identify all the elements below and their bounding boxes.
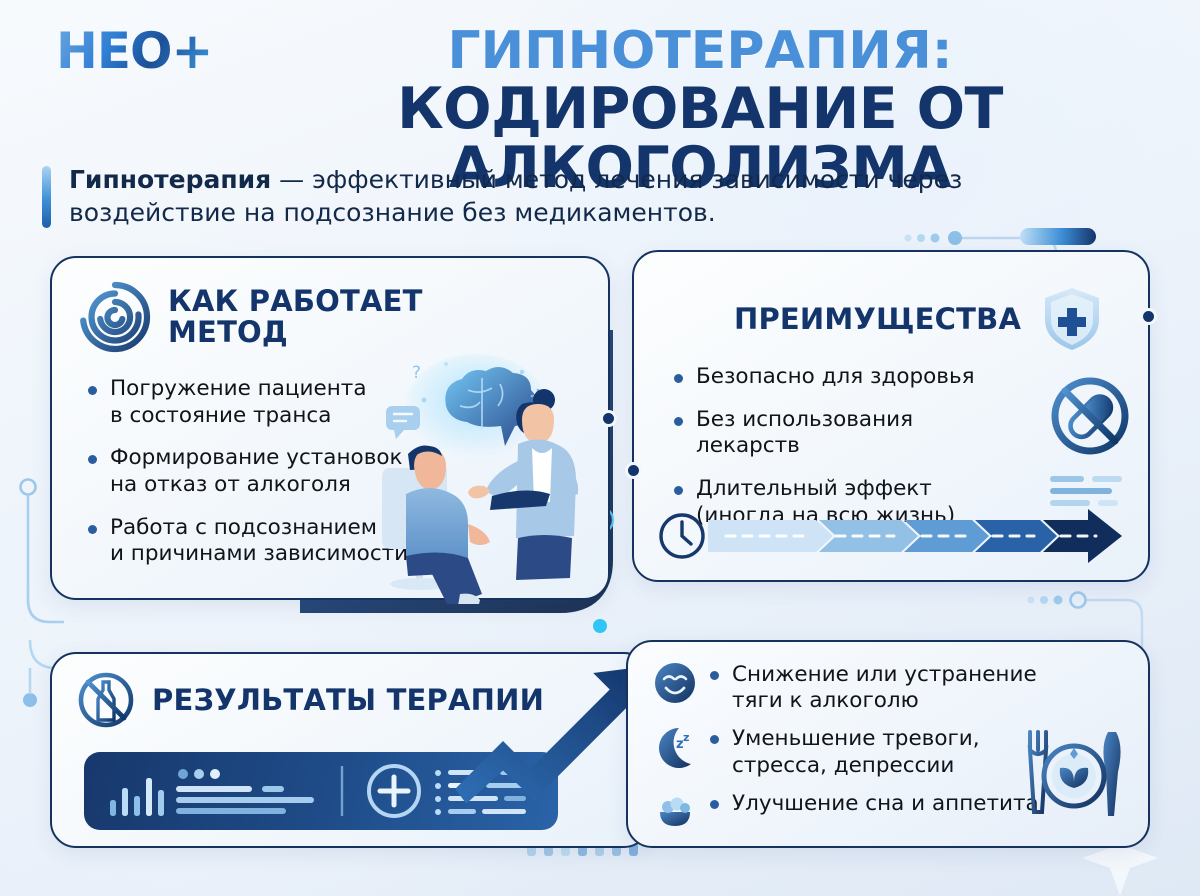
text-lines-icon	[1050, 474, 1130, 508]
healthy-meal-icon	[1020, 726, 1128, 820]
card-effects: Снижение или устранение тяги к алкоголю …	[626, 640, 1150, 848]
bullet-text: Формирование установок на отказ от алког…	[110, 445, 403, 497]
card-advantages-title: ПРЕИМУЩЕСТВА	[734, 304, 1021, 335]
bullet-text: Без использования лекарств	[696, 407, 913, 459]
lede-lead-word: Гипнотерапия	[69, 165, 271, 194]
list-item: Снижение или устранение тяги к алкоголю	[652, 660, 1052, 714]
list-item: Без использования лекарств	[672, 407, 1002, 460]
card-edge-dot	[1140, 308, 1157, 325]
bullet-text: Безопасно для здоровья	[696, 364, 975, 389]
card-advantages-header: ПРЕИМУЩЕСТВА	[734, 286, 1103, 352]
list-item: Работа с подсознанием и причинами зависи…	[86, 515, 416, 568]
lede-text: Гипнотерапия — эффективный метод лечения…	[69, 163, 1122, 230]
list-item: Безопасно для здоровья	[672, 364, 1002, 391]
card-effects-list: Снижение или устранение тяги к алкоголю …	[652, 660, 1052, 835]
card-method: КАК РАБОТАЕТ МЕТОД Погружение пациента в…	[50, 256, 610, 600]
bullet-text: Погружение пациента в состояние транса	[110, 376, 367, 428]
list-item: Погружение пациента в состояние транса	[86, 376, 416, 429]
card-method-bullets: Погружение пациента в состояние транса Ф…	[86, 376, 416, 568]
effect-text: Улучшение сна и аппетита	[710, 789, 1039, 817]
infographic-root: НЕО+ ГИПНОТЕРАПИЯ: КОДИРОВАНИЕ ОТ АЛКОГО…	[0, 0, 1200, 896]
effect-text: Снижение или устранение тяги к алкоголю	[710, 660, 1037, 714]
card-method-title: КАК РАБОТАЕТ МЕТОД	[168, 286, 423, 347]
list-item: z z Уменьшение тревоги, стресса, депресс…	[652, 724, 1052, 778]
title-line-1: ГИПНОТЕРАПИЯ:	[240, 24, 1160, 78]
no-alcohol-icon	[76, 670, 136, 730]
effect-text: Уменьшение тревоги, стресса, депрессии	[710, 724, 980, 778]
text-lines-icon	[176, 786, 314, 814]
brand-logo: НЕО+	[56, 26, 212, 76]
svg-text:z: z	[683, 731, 689, 744]
accent-bar	[42, 166, 51, 228]
spiral-hypnosis-icon	[78, 280, 152, 354]
calm-face-icon	[652, 660, 698, 706]
card-method-header: КАК РАБОТАЕТ МЕТОД	[78, 280, 423, 354]
card-edge-dot	[625, 462, 642, 479]
card-edge-dot	[600, 410, 617, 427]
moon-sleep-icon: z z	[652, 724, 698, 770]
card-advantages-bullets: Безопасно для здоровья Без использования…	[672, 364, 1002, 529]
no-pills-icon	[1048, 374, 1132, 458]
card-method-title-line1: КАК РАБОТАЕТ	[168, 286, 423, 317]
plus-circle-icon	[369, 766, 419, 816]
shield-plus-icon	[1041, 286, 1103, 352]
food-bowl-icon	[652, 789, 698, 835]
list-item: Улучшение сна и аппетита	[652, 789, 1052, 835]
list-item: Формирование установок на отказ от алког…	[86, 445, 416, 498]
duration-timeline	[656, 508, 1126, 564]
svg-text:?: ?	[412, 363, 421, 383]
card-advantages: ПРЕИМУЩЕСТВА Безопасно для здоровья Без …	[632, 250, 1150, 582]
bullet-text: Работа с подсознанием и причинами зависи…	[110, 515, 408, 567]
therapy-session-illustration: ?	[372, 348, 616, 604]
bar-chart-icon	[110, 778, 164, 816]
card-method-title-line2: МЕТОД	[168, 317, 423, 348]
lede-paragraph: Гипнотерапия — эффективный метод лечения…	[42, 163, 1122, 230]
